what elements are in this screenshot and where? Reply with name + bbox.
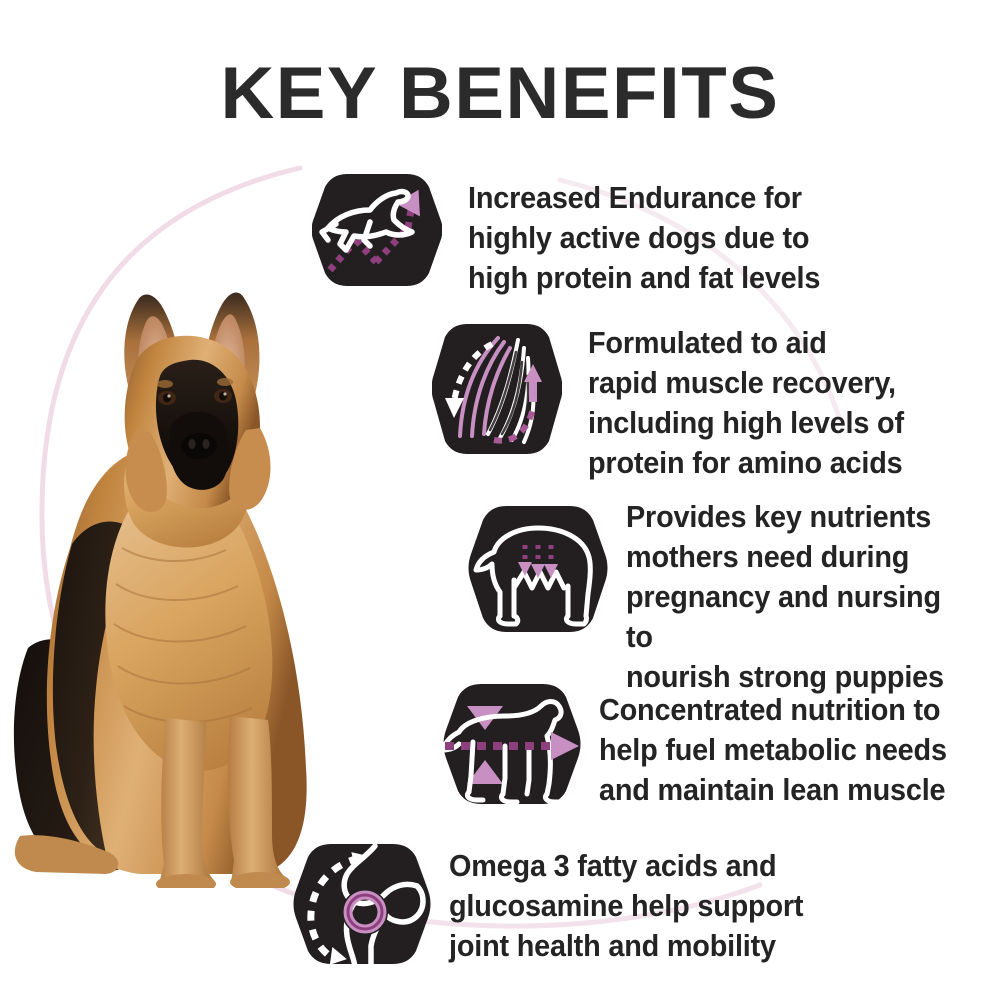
benefit-row-muscle-recovery: Formulated to aid rapid muscle recovery,… [432, 318, 928, 483]
benefit-row-concentrated-nutrition: Concentrated nutrition to help fuel meta… [443, 676, 973, 816]
benefit-text-pregnancy-nursing: Provides key nutrients mothers need duri… [626, 497, 974, 697]
hip-joint-mobility-icon [293, 836, 423, 976]
nursing-mother-dog-icon [468, 498, 598, 638]
benefit-row-joint-health: Omega 3 fatty acids and glucosamine help… [293, 836, 830, 976]
benefit-text-muscle-recovery: Formulated to aid rapid muscle recovery,… [588, 323, 904, 483]
muscle-fiber-recovery-icon [432, 318, 562, 458]
benefit-text-endurance: Increased Endurance for highly active do… [468, 178, 820, 298]
benefit-row-endurance: Increased Endurance for highly active do… [312, 166, 847, 306]
benefit-text-joint-health: Omega 3 fatty acids and glucosamine help… [449, 846, 803, 966]
benefit-row-pregnancy-nursing: Provides key nutrients mothers need duri… [468, 498, 1000, 697]
lean-dog-metabolism-icon [443, 676, 573, 816]
benefit-text-concentrated-nutrition: Concentrated nutrition to help fuel meta… [599, 690, 947, 810]
jumping-dog-rising-chart-icon [312, 166, 442, 306]
key-benefits-infographic: KEY BENEFITS [0, 0, 1000, 1000]
hero-dog-image [10, 248, 330, 888]
page-title: KEY BENEFITS [0, 57, 1000, 130]
